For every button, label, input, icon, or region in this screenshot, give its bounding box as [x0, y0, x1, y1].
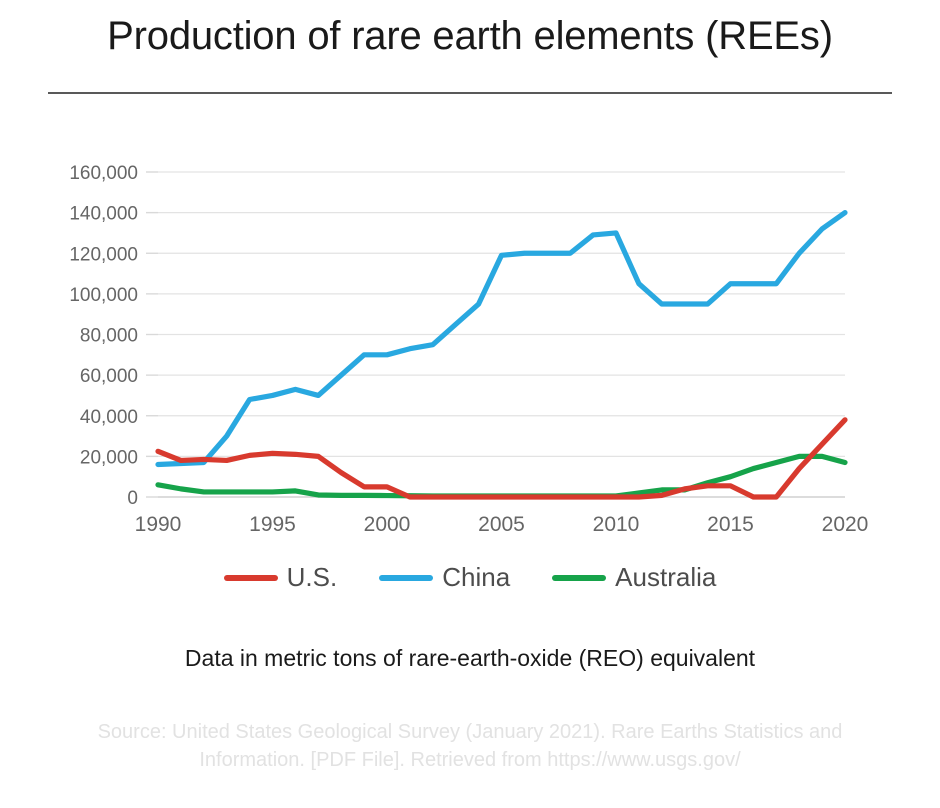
x-tick-label: 2020	[822, 513, 869, 536]
y-tick-label: 100,000	[69, 285, 138, 306]
title-block: Production of rare earth elements (REEs)	[0, 14, 940, 59]
legend-swatch-australia	[552, 575, 606, 581]
chart-caption: Data in metric tons of rare-earth-oxide …	[0, 645, 940, 672]
y-tick-label: 60,000	[80, 366, 138, 387]
y-tick-label: 40,000	[80, 407, 138, 428]
y-axis-labels: 020,00040,00060,00080,000100,000120,0001…	[69, 163, 138, 509]
y-tick-label: 140,000	[69, 204, 138, 225]
legend-label-australia: Australia	[615, 562, 716, 593]
title-divider	[48, 92, 892, 94]
slide-root: Production of rare earth elements (REEs)…	[0, 0, 940, 808]
x-tick-label: 2015	[707, 513, 754, 536]
chart-legend: U.S. China Australia	[0, 562, 940, 593]
page-title: Production of rare earth elements (REEs)	[0, 14, 940, 59]
tickmarks-group	[146, 172, 158, 497]
line-chart: 020,00040,00060,00080,000100,000120,0001…	[0, 140, 940, 560]
chart-container: 020,00040,00060,00080,000100,000120,0001…	[0, 140, 940, 560]
x-tick-label: 1995	[249, 513, 296, 536]
x-tick-label: 1990	[135, 513, 182, 536]
source-attribution: Source: United States Geological Survey …	[70, 718, 870, 775]
x-axis-labels: 1990199520002005201020152020	[135, 513, 869, 536]
y-tick-label: 160,000	[69, 163, 138, 184]
series-line-china	[158, 213, 845, 465]
legend-item-china[interactable]: China	[379, 562, 510, 593]
y-tick-label: 120,000	[69, 244, 138, 265]
legend-label-us: U.S.	[287, 562, 338, 593]
legend-swatch-china	[379, 575, 433, 581]
legend-swatch-us	[224, 575, 278, 581]
legend-label-china: China	[442, 562, 510, 593]
x-tick-label: 2010	[593, 513, 640, 536]
y-tick-label: 0	[127, 488, 138, 509]
legend-item-australia[interactable]: Australia	[552, 562, 716, 593]
series-line-us	[158, 420, 845, 497]
gridlines-group	[158, 172, 845, 497]
y-tick-label: 20,000	[80, 447, 138, 468]
series-lines-group	[158, 213, 845, 497]
x-tick-label: 2000	[364, 513, 411, 536]
legend-item-us[interactable]: U.S.	[224, 562, 338, 593]
x-tick-label: 2005	[478, 513, 525, 536]
y-tick-label: 80,000	[80, 326, 138, 347]
